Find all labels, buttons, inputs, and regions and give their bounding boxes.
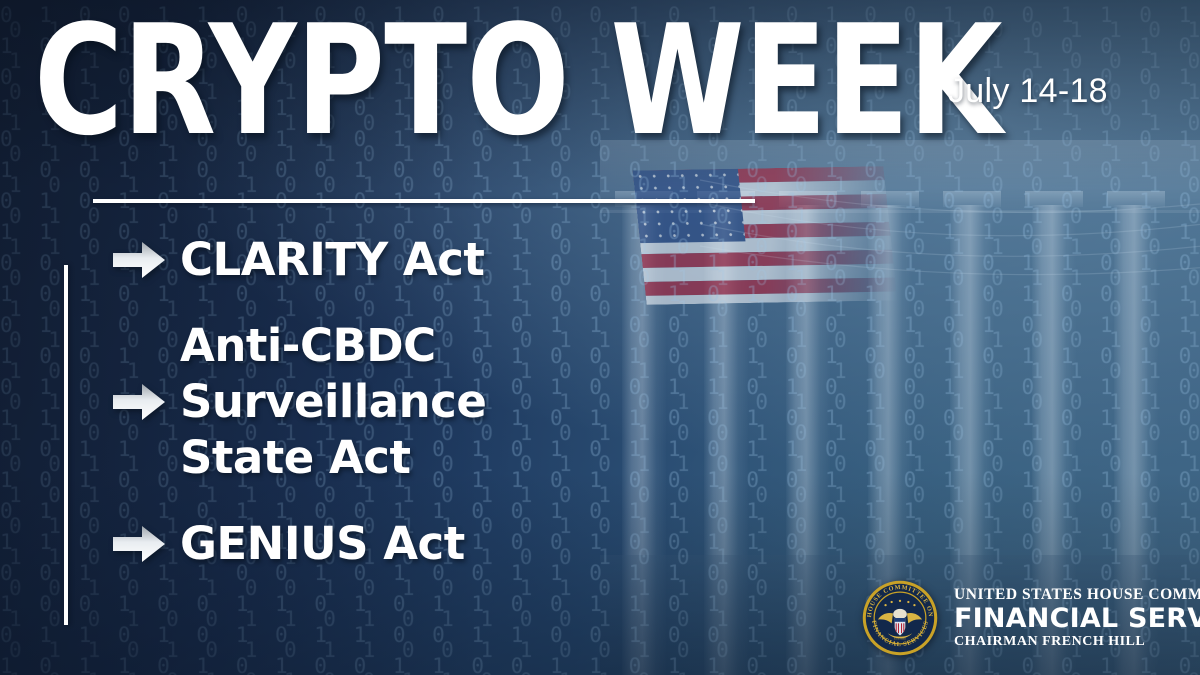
date-range-label: July 14-18 bbox=[948, 72, 1108, 111]
arrow-right-icon bbox=[112, 241, 166, 279]
bill-list: CLARITY Act Anti-CBDC Surveillance State… bbox=[112, 232, 672, 572]
list-item: CLARITY Act bbox=[112, 232, 672, 288]
page-title: CRYPTO WEEK bbox=[34, 5, 1002, 157]
house-financial-services-seal-icon: HOUSE COMMITTEE ON FINANCIAL SERVICES bbox=[862, 580, 938, 656]
committee-line-1: UNITED STATES HOUSE COMMITTEE ON bbox=[954, 586, 1200, 604]
list-item: Anti-CBDC Surveillance State Act bbox=[112, 318, 672, 486]
committee-line-3: CHAIRMAN FRENCH HILL bbox=[954, 633, 1200, 650]
seal-date: EST. 1865 bbox=[894, 638, 906, 641]
crypto-week-graphic: 0 1 0 0 1 1 0 1 0 0 1 0 1 1 0 0 1 0 1 1 … bbox=[0, 0, 1200, 675]
committee-logo-lockup: HOUSE COMMITTEE ON FINANCIAL SERVICES bbox=[862, 580, 1200, 656]
arrow-right-icon bbox=[112, 525, 166, 563]
list-item: GENIUS Act bbox=[112, 516, 672, 572]
vertical-divider bbox=[64, 265, 68, 625]
committee-line-2: FINANCIAL SERVICES bbox=[954, 604, 1200, 633]
list-item-label: Anti-CBDC Surveillance State Act bbox=[180, 318, 486, 486]
committee-name-block: UNITED STATES HOUSE COMMITTEE ON FINANCI… bbox=[954, 586, 1200, 650]
arrow-right-icon bbox=[112, 383, 166, 421]
list-item-label: CLARITY Act bbox=[180, 232, 484, 288]
horizontal-divider bbox=[93, 199, 755, 203]
list-item-label: GENIUS Act bbox=[180, 516, 465, 572]
